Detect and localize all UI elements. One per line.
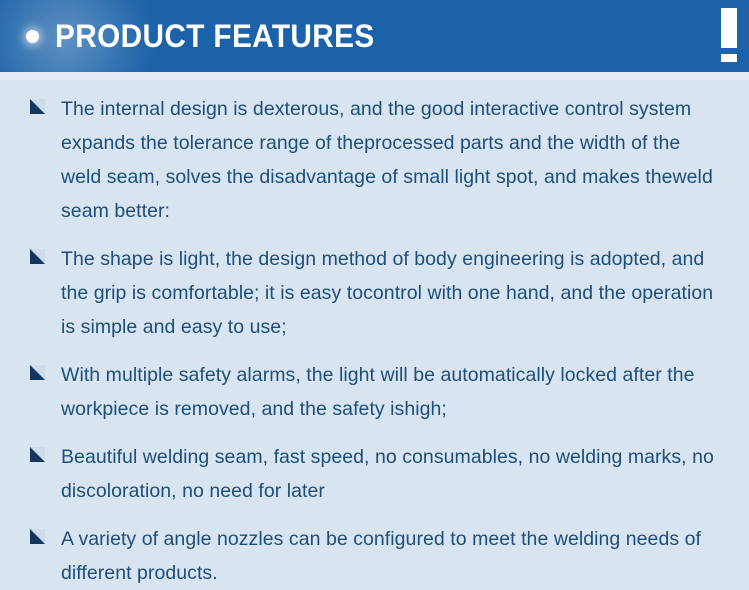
- list-item-text: With multiple safety alarms, the light w…: [61, 358, 716, 426]
- list-item: The internal design is dexterous, and th…: [30, 92, 735, 228]
- triangle-square-bullet-icon: [30, 99, 45, 114]
- list-item: The shape is light, the design method of…: [30, 242, 735, 344]
- header-underline-band: [0, 72, 749, 80]
- triangle-square-bullet-icon: [30, 365, 45, 380]
- triangle-square-bullet-icon: [30, 529, 45, 544]
- page-title: PRODUCT FEATURES: [55, 20, 375, 52]
- circle-bullet-icon: [26, 30, 39, 43]
- triangle-square-bullet-icon: [30, 447, 45, 462]
- features-list: The internal design is dexterous, and th…: [0, 80, 749, 590]
- exclamation-mark-stem: [721, 8, 737, 48]
- list-item: Beautiful welding seam, fast speed, no c…: [30, 440, 735, 508]
- list-item-text: The shape is light, the design method of…: [61, 242, 716, 344]
- header-title-row: PRODUCT FEATURES: [26, 0, 399, 72]
- triangle-square-bullet-icon: [30, 249, 45, 264]
- panel-header: PRODUCT FEATURES: [0, 0, 749, 72]
- list-item-text: Beautiful welding seam, fast speed, no c…: [61, 440, 716, 508]
- list-item: With multiple safety alarms, the light w…: [30, 358, 735, 426]
- exclamation-mark-icon: [721, 8, 737, 66]
- product-features-panel: PRODUCT FEATURES The internal design is …: [0, 0, 749, 531]
- list-item-text: The internal design is dexterous, and th…: [61, 92, 716, 228]
- list-item: A variety of angle nozzles can be config…: [30, 522, 735, 590]
- list-item-text: A variety of angle nozzles can be config…: [61, 522, 716, 590]
- exclamation-mark-dot: [721, 54, 737, 62]
